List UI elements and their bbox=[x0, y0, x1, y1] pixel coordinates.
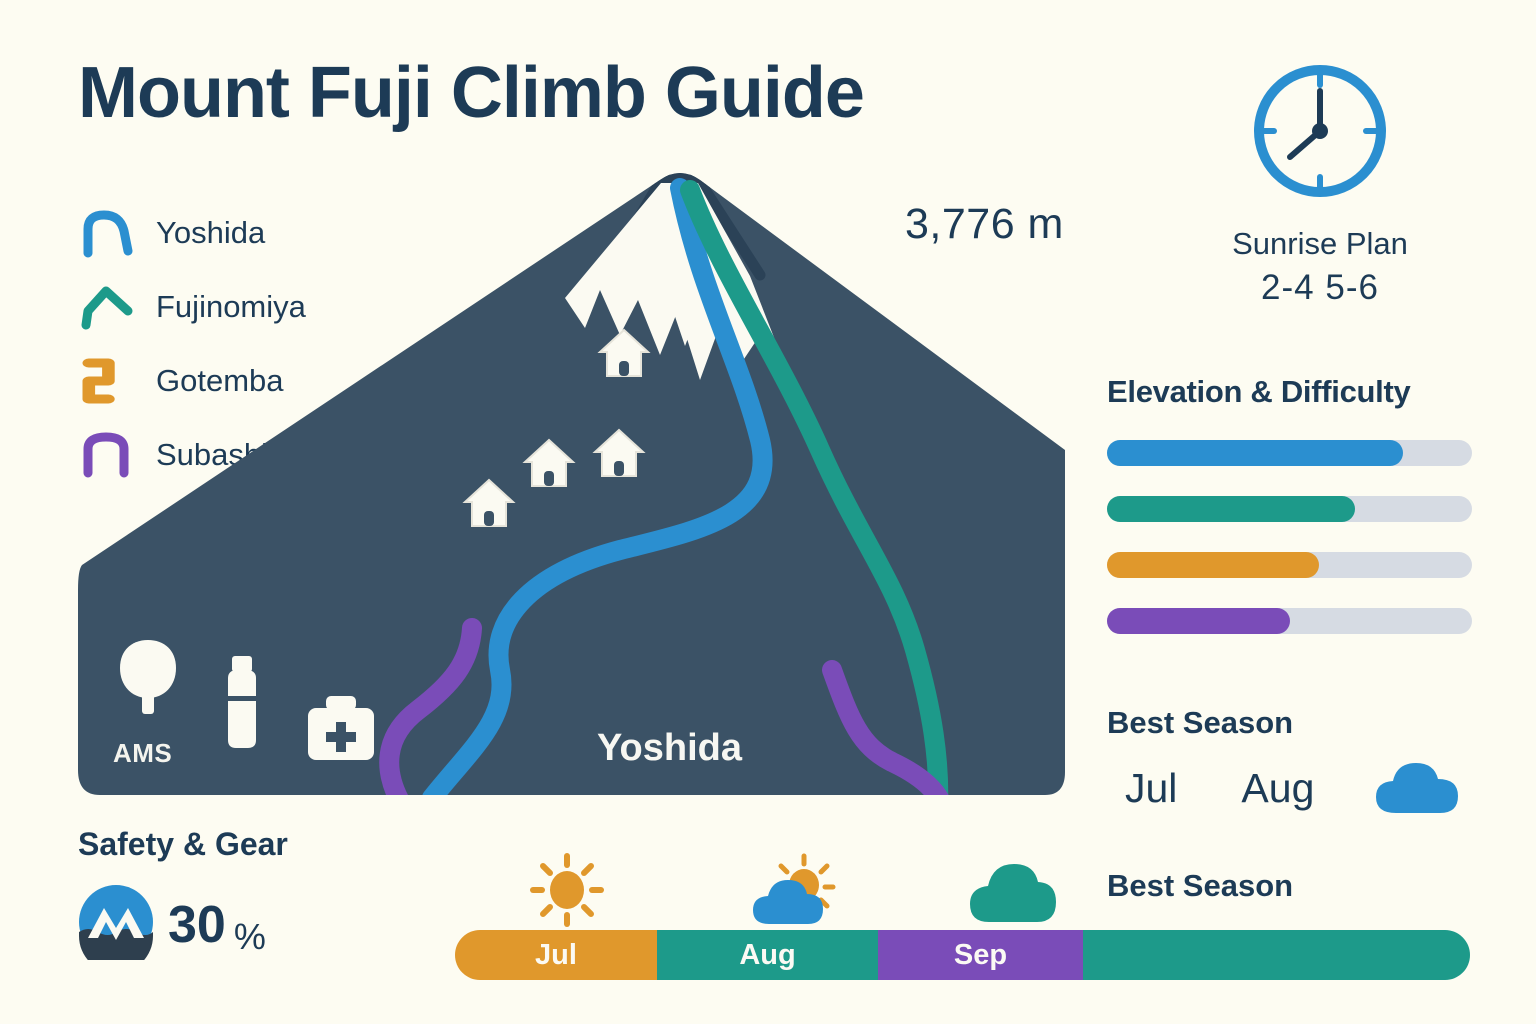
season-timeline-bar[interactable]: Jul Aug Sep bbox=[455, 930, 1470, 980]
trail-name-on-map: Yoshida bbox=[597, 727, 742, 770]
elevation-difficulty-section: Elevation & Difficulty bbox=[1107, 374, 1472, 634]
difficulty-bar-fill-fujinomiya bbox=[1107, 496, 1355, 522]
difficulty-bar-track-subashiri[interactable] bbox=[1107, 608, 1472, 634]
safety-percent-sign: % bbox=[234, 916, 266, 958]
sunrise-plan-title: Sunrise Plan bbox=[1175, 226, 1465, 262]
best-season-months: Jul Aug bbox=[1107, 757, 1487, 820]
season-timeline: Jul Aug Sep bbox=[455, 930, 1470, 980]
mountain-badge-icon bbox=[78, 884, 154, 965]
difficulty-bar-fill-gotemba bbox=[1107, 552, 1319, 578]
cloud-icon bbox=[967, 852, 1059, 933]
difficulty-bar-track-yoshida[interactable] bbox=[1107, 440, 1472, 466]
best-season-month-aug: Aug bbox=[1241, 765, 1314, 812]
elevation-difficulty-heading: Elevation & Difficulty bbox=[1107, 374, 1472, 410]
mountain-body bbox=[78, 173, 1065, 795]
best-season-lower-heading: Best Season bbox=[1107, 868, 1293, 904]
infographic-canvas: Mount Fuji Climb Guide Yoshida Fujinomiy… bbox=[0, 0, 1536, 1024]
best-season-heading: Best Season bbox=[1107, 705, 1487, 741]
clock-icon bbox=[1244, 194, 1396, 211]
difficulty-bar-track-fujinomiya[interactable] bbox=[1107, 496, 1472, 522]
timeline-segment-tail[interactable] bbox=[1083, 930, 1470, 980]
best-season-month-jul: Jul bbox=[1125, 765, 1177, 812]
page-title: Mount Fuji Climb Guide bbox=[78, 52, 864, 134]
summit-elevation-label: 3,776 m bbox=[905, 200, 1064, 249]
cloud-icon bbox=[1374, 757, 1462, 820]
timeline-segment-aug-label: Aug bbox=[739, 939, 795, 972]
timeline-segment-sep[interactable]: Sep bbox=[878, 930, 1083, 980]
safety-gear-stat: 30 % bbox=[78, 884, 266, 965]
sun-icon bbox=[529, 852, 605, 933]
ams-label: AMS bbox=[113, 738, 172, 769]
timeline-segment-aug[interactable]: Aug bbox=[657, 930, 878, 980]
difficulty-bar-fill-yoshida bbox=[1107, 440, 1403, 466]
safety-percent-value: 30 bbox=[168, 895, 226, 955]
difficulty-bar-track-gotemba[interactable] bbox=[1107, 552, 1472, 578]
sunrise-plan-windows: 2-4 5-6 bbox=[1175, 268, 1465, 308]
sun-behind-cloud-icon bbox=[751, 852, 837, 933]
timeline-segment-jul-label: Jul bbox=[535, 939, 577, 972]
mountain-map bbox=[60, 150, 1090, 810]
timeline-segment-sep-label: Sep bbox=[954, 939, 1007, 972]
best-season-section: Best Season Jul Aug bbox=[1107, 705, 1487, 820]
sunrise-plan-card: Sunrise Plan 2-4 5-6 bbox=[1175, 55, 1465, 308]
timeline-segment-jul[interactable]: Jul bbox=[455, 930, 657, 980]
difficulty-bar-fill-subashiri bbox=[1107, 608, 1290, 634]
safety-gear-heading: Safety & Gear bbox=[78, 826, 288, 863]
